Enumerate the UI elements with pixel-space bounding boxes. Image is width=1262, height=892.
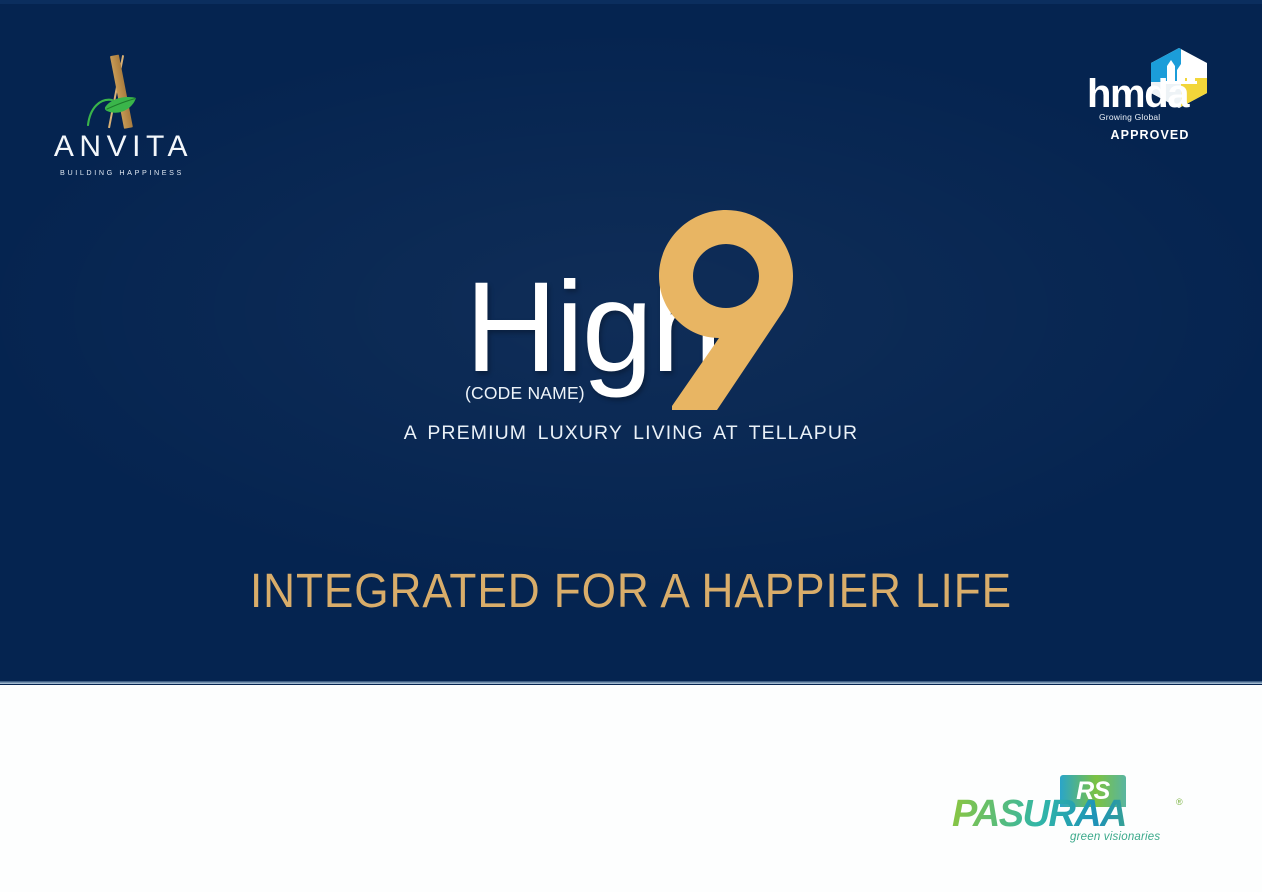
pasuraa-partner-logo[interactable]: RS PASURAA ® green visionaries (952, 775, 1212, 841)
anvita-a-mark-icon (46, 48, 196, 128)
headline-text: INTEGRATED FOR A HAPPIER LIFE (50, 564, 1211, 621)
hero-divider (0, 681, 1262, 684)
hero-panel: ANVITA BUILDING HAPPINESS (0, 0, 1262, 685)
anvita-logo[interactable]: ANVITA BUILDING HAPPINESS (46, 48, 196, 180)
project-numeral-nine (659, 210, 793, 410)
anvita-wordmark: ANVITA (46, 132, 196, 162)
anvita-tagline: BUILDING HAPPINESS (46, 168, 196, 177)
project-logo-lockup: High (CODE NAME) A PREMIUM LUXURY LIVING… (0, 210, 1262, 422)
presentation-slide: ANVITA BUILDING HAPPINESS (0, 0, 1262, 892)
project-code-name-label: (CODE NAME) (465, 385, 585, 403)
pasuraa-wordmark: PASURAA (952, 797, 1186, 831)
hmda-approved-label: APPROVED (1075, 128, 1225, 142)
registered-trademark-icon: ® (1176, 797, 1183, 807)
project-subtitle: A PREMIUM LUXURY LIVING AT TELLAPUR (0, 422, 1262, 445)
hmda-wordmark: hmda (1087, 74, 1188, 114)
pasuraa-tagline: green visionaries (1070, 831, 1160, 843)
hmda-tagline: Growing Global (1099, 112, 1160, 122)
leaf-icon (86, 86, 138, 126)
hmda-approval-badge[interactable]: hmda Growing Global APPROVED (1075, 48, 1225, 152)
